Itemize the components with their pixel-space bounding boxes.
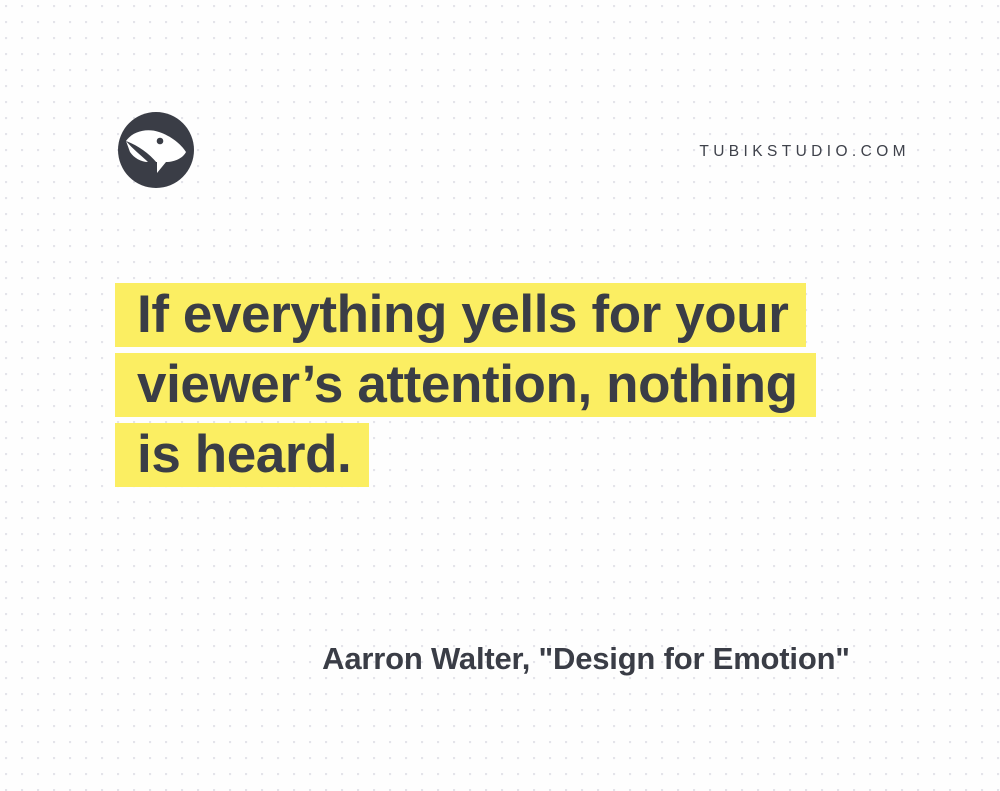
quote-text: If everything yells for your viewer’s at… <box>115 283 905 493</box>
quote-line-1-highlight: If everything yells for your <box>115 283 806 347</box>
quote-line-3-highlight: is heard. <box>115 423 369 487</box>
quote-attribution: Aarron Walter, "Design for Emotion" <box>0 641 1000 677</box>
attribution-label: Aarron Walter, "Design for Emotion" <box>322 641 850 677</box>
quote-line: If everything yells for your <box>115 283 905 347</box>
quote-line-2-highlight: viewer’s attention, nothing <box>115 353 816 417</box>
site-url-label: TUBIKSTUDIO.COM <box>699 143 910 161</box>
quote-slide: TUBIKSTUDIO.COM If everything yells for … <box>0 0 1000 791</box>
tubik-bird-logo-icon <box>117 111 195 189</box>
quote-line: is heard. <box>115 423 905 487</box>
quote-line: viewer’s attention, nothing <box>115 353 905 417</box>
